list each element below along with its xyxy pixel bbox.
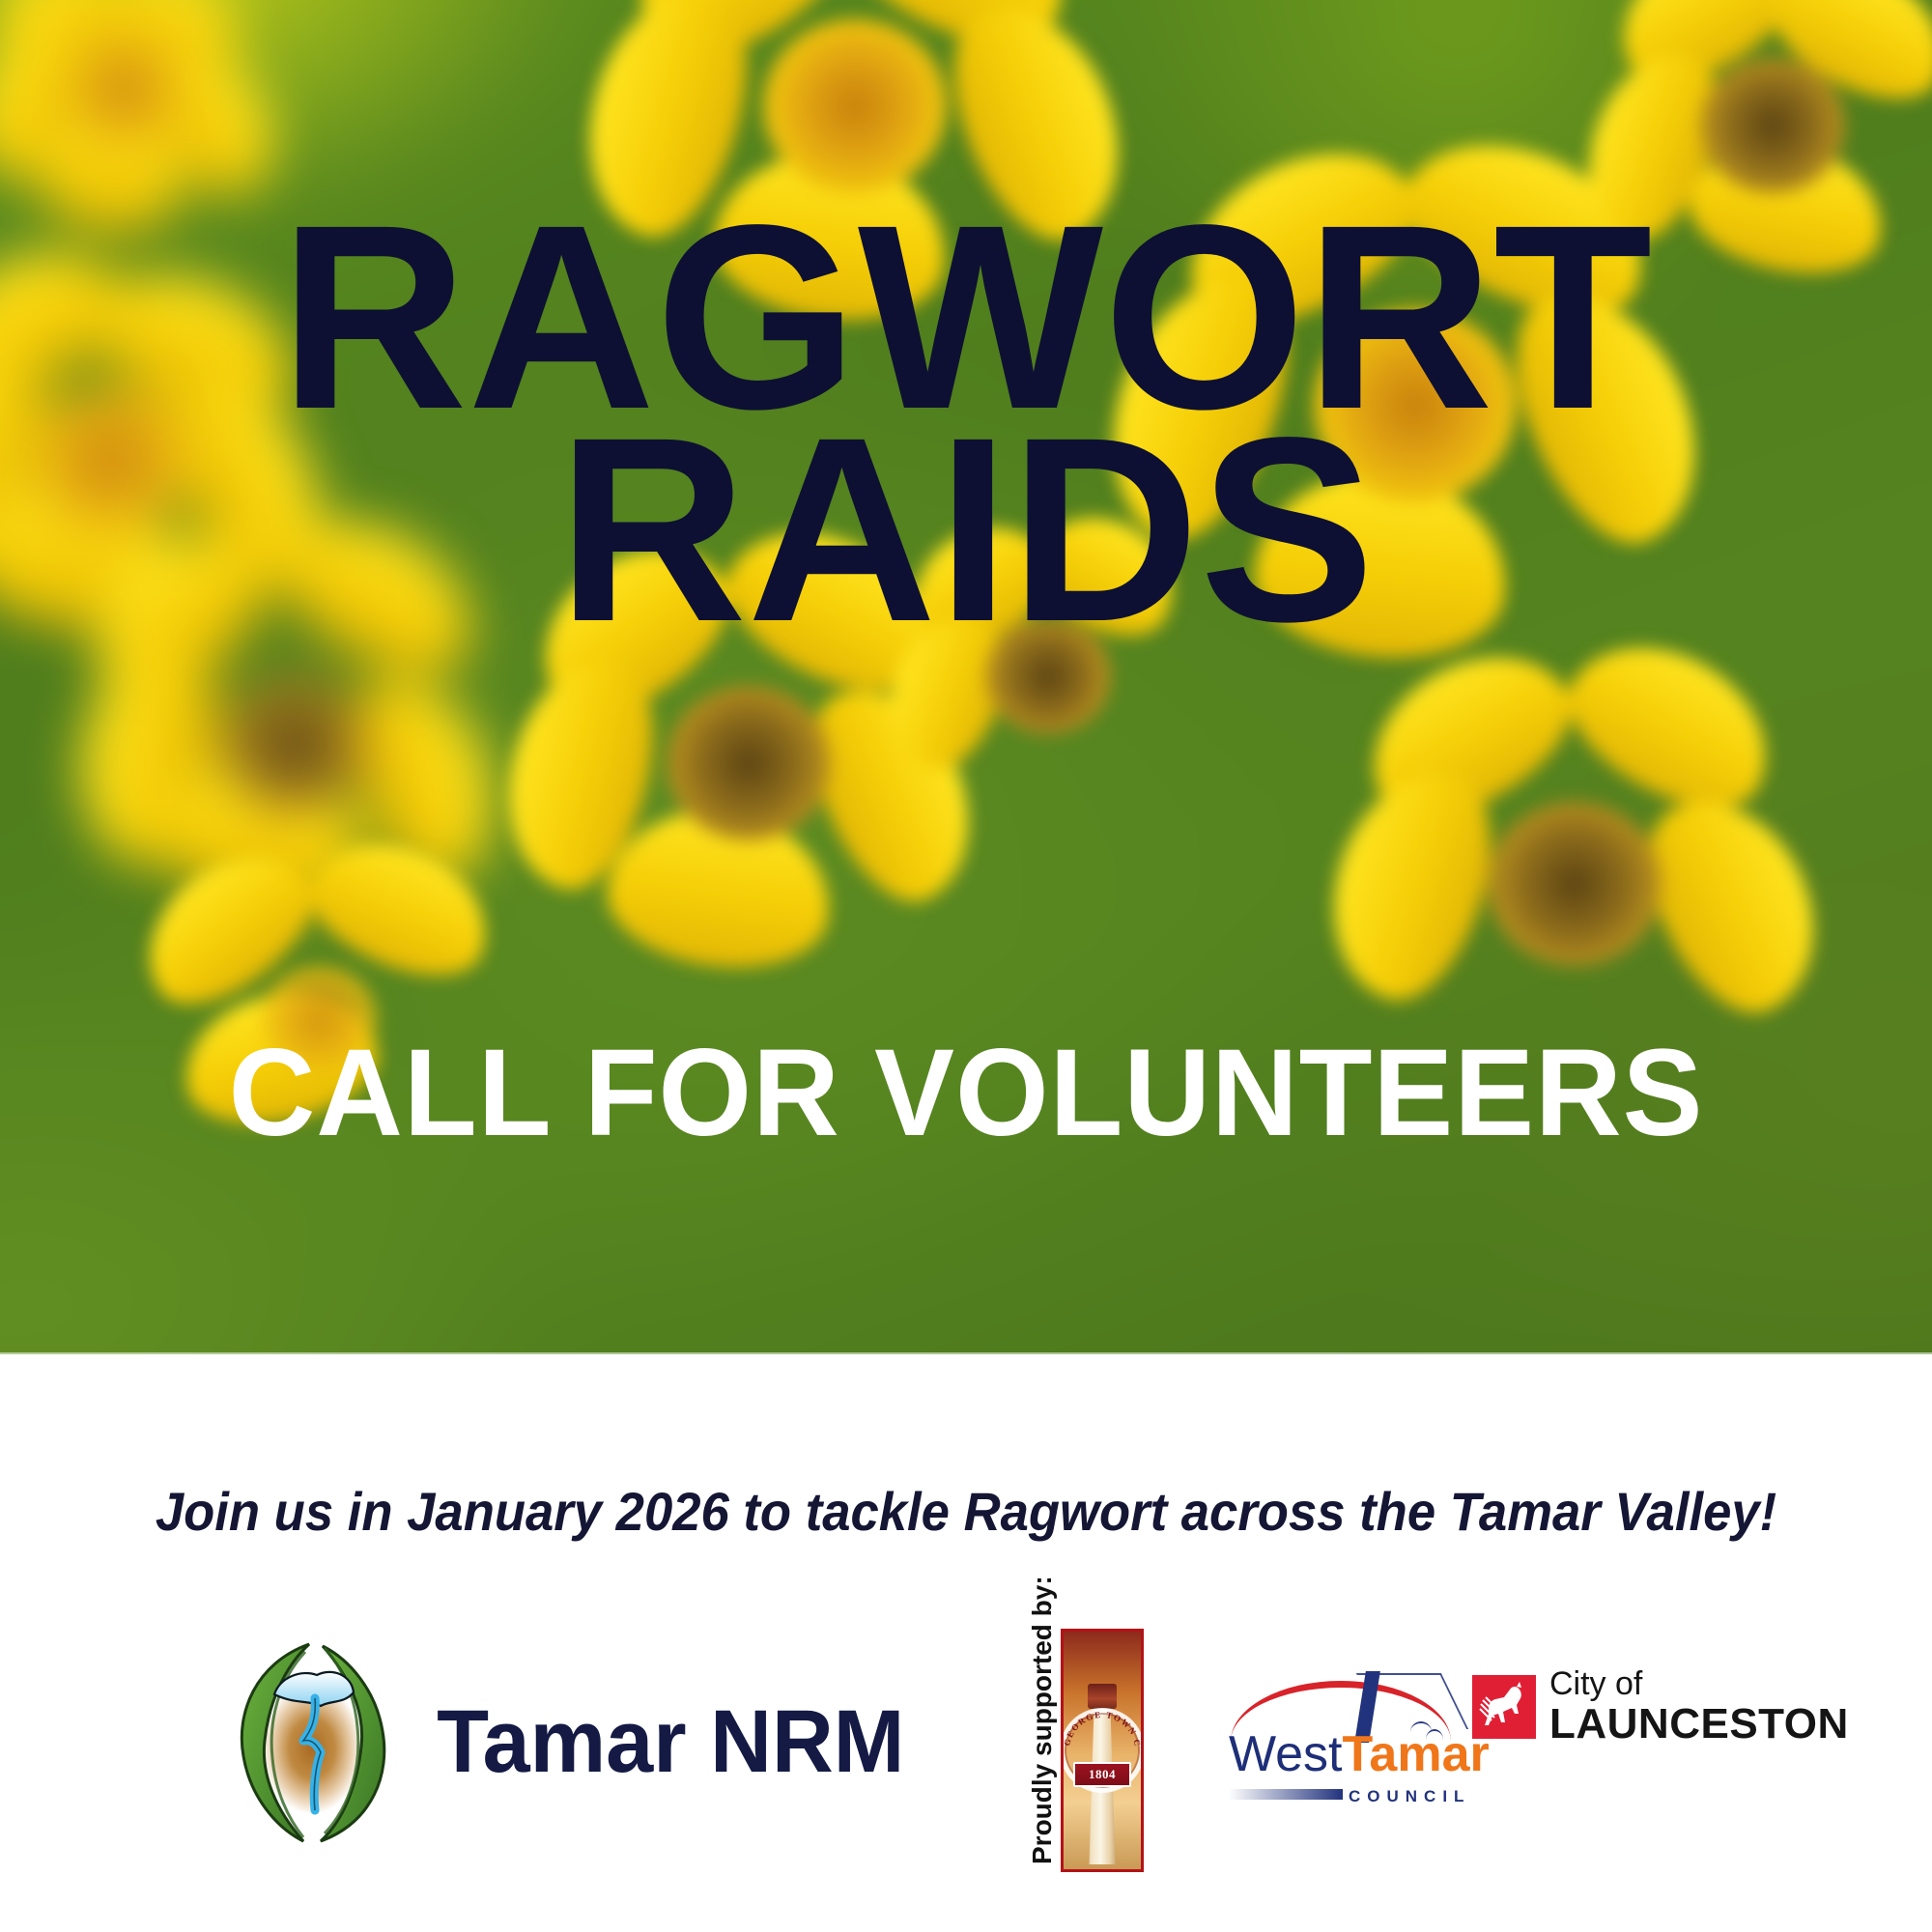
proudly-supported-by-label: Proudly supported by: — [1019, 1625, 1064, 1872]
launceston-word-city-of: City of — [1549, 1667, 1849, 1700]
hero-photo-ragwort-flowers: RAGWORT RAIDS CALL FOR VOLUNTEERS — [0, 0, 1932, 1354]
west-tamar-word-council: COUNCIL — [1349, 1787, 1470, 1806]
city-of-launceston-wordmark: City of LAUNCESTON — [1549, 1667, 1849, 1746]
west-tamar-gradient-bar — [1229, 1789, 1343, 1800]
tamar-nrm-leaf-circle-icon — [220, 1621, 404, 1862]
logo-row: Tamar NRM Proudly supported by: GEORGE T… — [0, 1611, 1932, 1891]
city-of-launceston-logo: City of LAUNCESTON — [1472, 1667, 1849, 1746]
george-town-council-logo: GEORGE TOWN COUNCIL 1804 — [1061, 1629, 1144, 1872]
thylacine-icon — [1472, 1675, 1536, 1739]
george-town-council-established-banner: 1804 — [1073, 1762, 1131, 1787]
west-tamar-council-logo: WestTamar COUNCIL — [1229, 1665, 1461, 1820]
tamar-nrm-wordmark: Tamar NRM — [437, 1691, 904, 1793]
tagline-text: Join us in January 2026 to tackle Ragwor… — [58, 1480, 1874, 1543]
west-tamar-word-west: West — [1229, 1726, 1343, 1782]
west-tamar-word-tamar: Tamar — [1343, 1726, 1490, 1782]
tamar-nrm-logo: Tamar NRM — [220, 1621, 914, 1862]
headline-line-2: RAIDS — [0, 417, 1932, 643]
proudly-supported-by-text: Proudly supported by: — [1027, 1617, 1058, 1864]
poster-canvas: RAGWORT RAIDS CALL FOR VOLUNTEERS Join u… — [0, 0, 1932, 1932]
lighthouse-lamp-icon — [1088, 1684, 1117, 1709]
launceston-word-name: LAUNCESTON — [1549, 1703, 1849, 1746]
west-tamar-wordmark: WestTamar — [1229, 1729, 1461, 1779]
subheadline-call-for-volunteers: CALL FOR VOLUNTEERS — [29, 1032, 1903, 1155]
